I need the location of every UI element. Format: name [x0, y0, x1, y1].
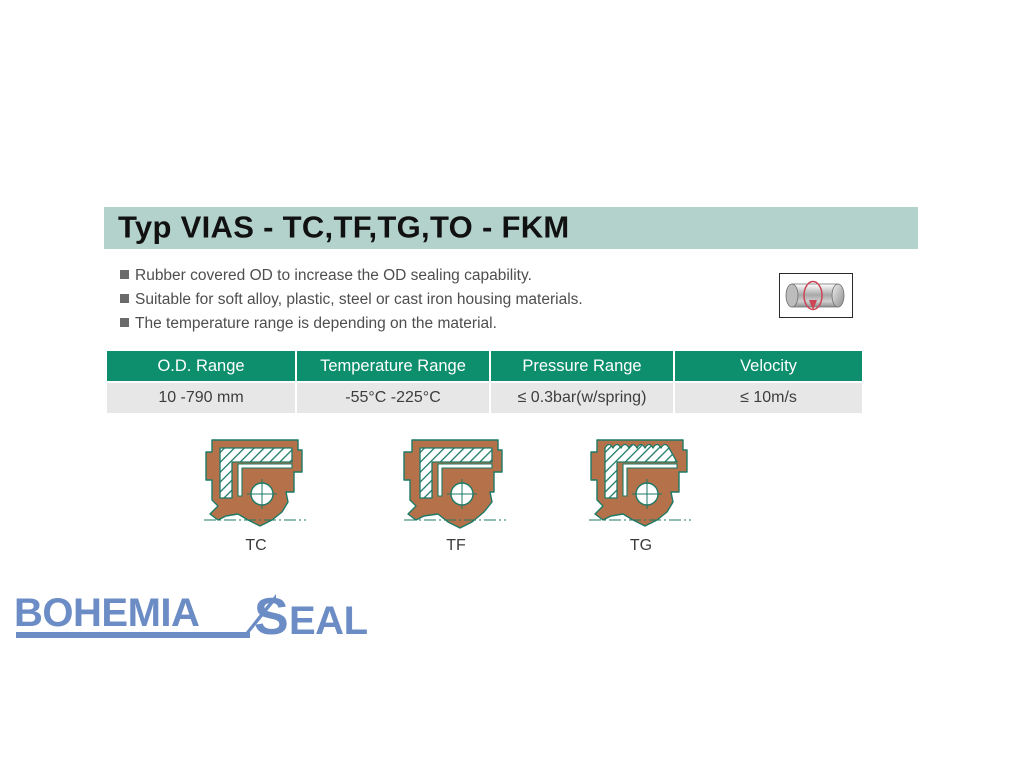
cell-velocity: ≤ 10m/s: [675, 383, 862, 413]
cell-od-range: 10 -790 mm: [107, 383, 295, 413]
logo-text-bohemia: BOHEMIA: [14, 591, 199, 635]
list-item: Suitable for soft alloy, plastic, steel …: [120, 290, 720, 312]
list-item-label: Rubber covered OD to increase the OD sea…: [135, 266, 532, 286]
table-header-row: O.D. Range Temperature Range Pressure Ra…: [107, 351, 862, 381]
column-header-temperature-range: Temperature Range: [297, 351, 489, 381]
seal-diagram-tf: TF: [398, 434, 514, 555]
cell-pressure-range: ≤ 0.3bar(w/spring): [491, 383, 673, 413]
seal-label-tc: TC: [198, 537, 314, 555]
cell-temperature-range: -55°C -225°C: [297, 383, 489, 413]
table-row: 10 -790 mm -55°C -225°C ≤ 0.3bar(w/sprin…: [107, 383, 862, 413]
list-item: Rubber covered OD to increase the OD sea…: [120, 266, 720, 288]
column-header-velocity: Velocity: [675, 351, 862, 381]
feature-bullet-list: Rubber covered OD to increase the OD sea…: [120, 266, 720, 338]
seal-diagram-tc: TC: [198, 434, 314, 555]
title-band: Typ VIAS - TC,TF,TG,TO - FKM: [104, 207, 918, 249]
logo-text-eal: EAL: [289, 599, 368, 643]
list-item-label: Suitable for soft alloy, plastic, steel …: [135, 290, 583, 310]
seal-cross-section-tf: [398, 434, 514, 534]
column-header-pressure-range: Pressure Range: [491, 351, 673, 381]
seal-cross-section-tc: [198, 434, 314, 534]
specification-table: O.D. Range Temperature Range Pressure Ra…: [105, 349, 864, 415]
list-item: The temperature range is depending on th…: [120, 314, 720, 336]
square-bullet-icon: [120, 270, 129, 279]
square-bullet-icon: [120, 318, 129, 327]
rotating-shaft-icon: [779, 273, 853, 318]
column-header-od-range: O.D. Range: [107, 351, 295, 381]
bohemia-seal-logo: BOHEMIA S EAL: [14, 588, 394, 650]
seal-label-tg: TG: [583, 537, 699, 555]
seal-label-tf: TF: [398, 537, 514, 555]
seal-diagram-tg: TG: [583, 434, 699, 555]
list-item-label: The temperature range is depending on th…: [135, 314, 497, 334]
seal-cross-section-tg: [583, 434, 699, 534]
page-title: Typ VIAS - TC,TF,TG,TO - FKM: [118, 209, 570, 245]
square-bullet-icon: [120, 294, 129, 303]
